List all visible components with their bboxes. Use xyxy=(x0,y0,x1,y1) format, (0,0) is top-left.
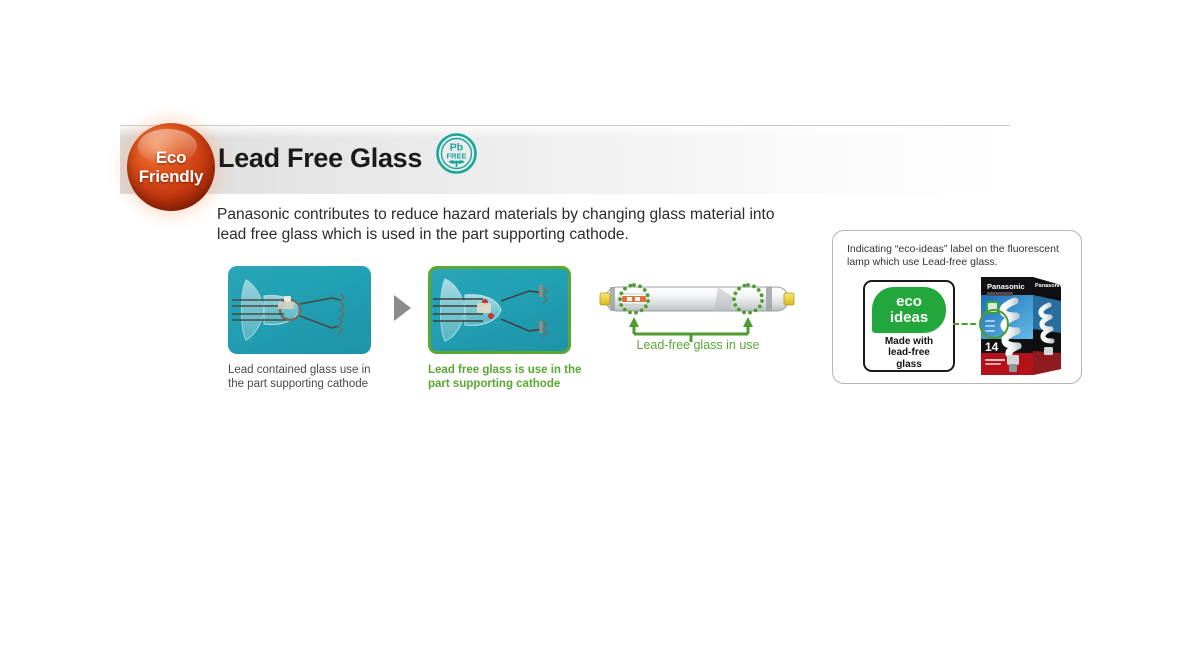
page-title: Lead Free Glass xyxy=(218,143,422,174)
eco-leaf-line-2: ideas xyxy=(890,310,928,326)
eco-ideas-panel: Indicating “eco-ideas” label on the fluo… xyxy=(832,230,1082,384)
eco-leaf-line-1: eco xyxy=(896,294,922,310)
eco-panel-note: Indicating “eco-ideas” label on the fluo… xyxy=(847,243,1073,268)
svg-text:14: 14 xyxy=(985,340,999,354)
svg-text:Panasonic: Panasonic xyxy=(987,282,1025,291)
eco-ideas-leaf-logo: eco ideas xyxy=(872,287,946,333)
tube-diagram-label: Lead-free glass in use xyxy=(598,338,798,352)
eco-sub-line-2: lead-free xyxy=(885,347,933,359)
eco-sub-line-3: glass xyxy=(885,359,933,371)
before-photo-block: Lead contained glass use in the part sup… xyxy=(228,266,388,391)
eco-friendly-badge-text: Eco Friendly xyxy=(127,123,215,211)
svg-text:FREE: FREE xyxy=(446,152,466,161)
before-photo-caption: Lead contained glass use in the part sup… xyxy=(228,364,388,391)
arrow-right-icon xyxy=(394,295,411,321)
eco-sub-line-1: Made with xyxy=(885,336,933,348)
badge-line-2: Friendly xyxy=(139,167,204,186)
after-photo-block: Lead free glass is use in the part suppo… xyxy=(428,266,588,391)
pb-free-icon: Pb FREE xyxy=(436,133,477,174)
lead-free-cathode-photo xyxy=(428,266,571,354)
badge-line-1: Eco xyxy=(156,148,187,167)
eco-label-subtext: Made with lead-free glass xyxy=(885,336,933,371)
eco-friendly-badge: Eco Friendly xyxy=(127,123,215,211)
lead-contained-cathode-photo xyxy=(228,266,371,354)
eco-ideas-label-card: eco ideas Made with lead-free glass xyxy=(863,280,955,372)
after-photo-caption: Lead free glass is use in the part suppo… xyxy=(428,364,588,391)
svg-text:Panasonic: Panasonic xyxy=(1035,283,1063,289)
eco-chip-highlight-circle xyxy=(979,309,1009,339)
intro-paragraph: Panasonic contributes to reduce hazard m… xyxy=(217,205,797,245)
